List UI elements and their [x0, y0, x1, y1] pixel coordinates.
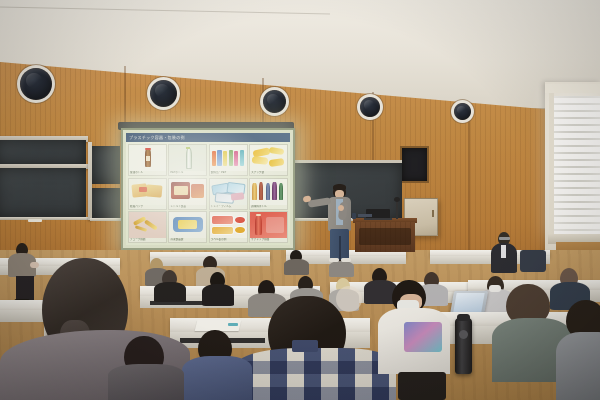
person-head-light [336, 286, 362, 312]
plaid-person-shirt [236, 348, 396, 400]
chair-back [398, 372, 446, 400]
slide-cell-caption: ラベル表示例 [210, 238, 247, 242]
presenter-hair [333, 184, 346, 190]
label-banner [211, 215, 234, 225]
projection-screen: プラスチック容器・包装の例 醒油ボトル PETボトル [121, 128, 295, 250]
wall-seam [468, 102, 470, 252]
blackboard-right-upper [92, 146, 120, 184]
round-vent-icon [263, 90, 286, 113]
person-body [202, 284, 234, 306]
slide-cell: 飲料缶・PET [209, 144, 248, 176]
blackboard-right-lower [92, 188, 120, 218]
sauce-bottle [272, 182, 276, 200]
slide-cell: レトルト食品 [168, 178, 207, 210]
bottle-cap [186, 147, 190, 149]
can-shape [217, 150, 221, 166]
product-image [129, 145, 166, 171]
bottle-cap [256, 214, 261, 216]
presenter-shoe [341, 258, 351, 262]
round-vent-icon [454, 103, 471, 120]
slide-product-grid: 醒油ボトル PETボトル [126, 142, 290, 245]
slide-cell: スナック袋 [249, 144, 288, 176]
carton-label [139, 187, 148, 192]
slide-cell-caption: 冷凍食品袋 [169, 238, 206, 242]
meat-tray [231, 192, 244, 201]
chalk-tray [0, 217, 90, 220]
label-area [266, 217, 284, 234]
snack-pack [268, 146, 284, 155]
bag-label [178, 220, 197, 229]
product-image [210, 145, 247, 171]
presenter-hand [338, 205, 344, 211]
person-body [329, 261, 354, 277]
wall-speaker-panel [400, 146, 429, 183]
slide-cell-caption: レトルト食品 [169, 205, 206, 209]
slide-cell: ケチャップ容器 [249, 211, 288, 243]
person-body [154, 282, 186, 302]
carton-pack [145, 185, 162, 199]
far-right-body [556, 332, 600, 400]
product-image [250, 145, 287, 171]
can-shape [223, 151, 227, 166]
sauce-bottle [266, 183, 270, 201]
person-body [182, 356, 252, 400]
can-shape [229, 150, 233, 166]
retort-pouch [191, 184, 204, 198]
slide-cell-caption: 醒油ボトル [129, 171, 166, 175]
blackboard-upper-left [0, 140, 86, 166]
slide-cell-caption: 紙箱パック [129, 205, 166, 209]
person-hand [30, 262, 39, 268]
slide-cell: トレイ・フィルム [209, 178, 248, 210]
laptop-base [364, 218, 392, 220]
cabinet-latch [432, 210, 434, 217]
gold-tube [135, 225, 147, 232]
blackboard-lower-left [0, 168, 86, 217]
slide: プラスチック容器・包装の例 醒油ボトル PETボトル [126, 133, 290, 245]
water-bottle[interactable] [455, 318, 472, 374]
sweatshirt-graphic-print [404, 322, 442, 352]
product-image [169, 145, 206, 171]
window-mullion [549, 90, 554, 240]
sauce-bottle [252, 183, 256, 201]
slide-cell-caption: ケチャップ容器 [250, 238, 287, 242]
slide-cell-caption: PETボトル [169, 171, 206, 175]
can-shape [234, 151, 238, 166]
lecture-hall-photo: プラスチック容器・包装の例 醒油ボトル PETボトル [0, 0, 600, 400]
product-image [169, 179, 206, 205]
product-image [250, 179, 287, 205]
slide-cell: 紙箱パック [128, 178, 167, 210]
product-image [129, 179, 166, 205]
window-header [545, 84, 600, 93]
sauce-bottle [259, 182, 263, 200]
product-image [210, 179, 247, 205]
slide-cell: PETボトル [168, 144, 207, 176]
round-vent-icon [20, 68, 52, 100]
podium-front-panel [359, 228, 411, 245]
slide-cell-caption: トレイ・フィルム [210, 205, 247, 209]
slide-cell: チューブ容器 [128, 211, 167, 243]
presenter-shoe [329, 258, 339, 262]
slide-cell-caption: チューブ容器 [129, 238, 166, 242]
slide-cell: ラベル表示例 [209, 211, 248, 243]
jeans-seam [339, 236, 341, 260]
slide-title-bar: プラスチック容器・包装の例 [126, 133, 290, 142]
label-banner [211, 226, 234, 236]
slide-title-text: プラスチック容器・包装の例 [129, 135, 185, 141]
slide-cell: 調味料ボトル [249, 178, 288, 210]
pen-icon [228, 323, 238, 326]
product-image [169, 212, 206, 238]
slide-cell: 冷凍食品袋 [168, 211, 207, 243]
person-body [284, 259, 309, 275]
can-shape [212, 151, 216, 166]
badge-circle [234, 216, 246, 225]
jacket-on-chair [520, 250, 546, 272]
product-image [129, 212, 166, 238]
round-vent-icon [150, 80, 177, 107]
pet-bottle-shape [186, 148, 192, 169]
bottle-label [146, 156, 151, 161]
podium-item [352, 213, 356, 219]
red-squeeze-bottle [255, 215, 262, 235]
microphone-stand [396, 200, 398, 219]
bottle-logo [459, 330, 468, 339]
product-image [210, 212, 247, 238]
person-body [108, 364, 184, 400]
sauce-bottle [279, 183, 283, 201]
bottle-cap [457, 314, 470, 321]
shirt-collar [501, 245, 506, 258]
slide-cell-caption: 調味料ボトル [250, 205, 287, 209]
snack-pack [252, 157, 269, 165]
chalk-tray [90, 218, 122, 221]
shirt-collar [292, 340, 318, 352]
face-mask-icon [489, 285, 501, 292]
product-image [250, 212, 287, 238]
glasses-icon [499, 237, 510, 240]
laptop-screen [453, 293, 484, 312]
window-blinds[interactable] [552, 96, 600, 236]
round-vent-icon [360, 97, 380, 117]
slide-cell-caption: 飲料缶・PET [210, 171, 247, 175]
podium-item [358, 214, 372, 217]
chalk-eraser [28, 219, 42, 222]
microphone-icon [394, 197, 400, 202]
slide-cell: 醒油ボトル [128, 144, 167, 176]
can-shape [240, 150, 244, 165]
snack-pack [269, 157, 285, 166]
slide-cell-caption: スナック袋 [250, 171, 287, 175]
pouch-label [174, 186, 188, 195]
badge-circle [234, 226, 246, 235]
